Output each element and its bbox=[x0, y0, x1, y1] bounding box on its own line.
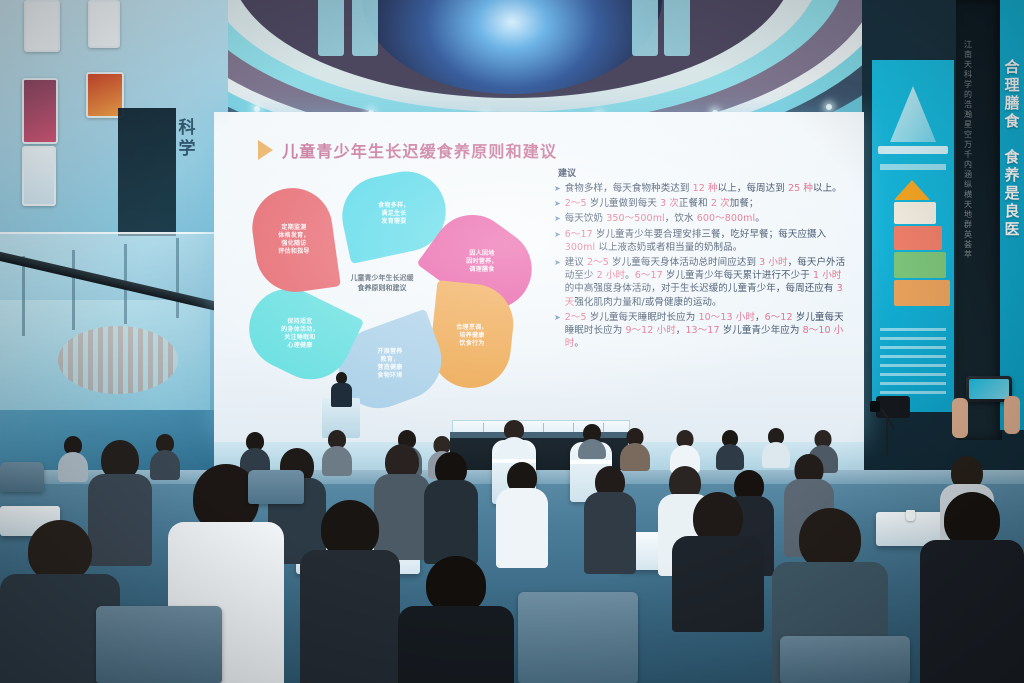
audience-person bbox=[498, 420, 530, 454]
person-head bbox=[799, 508, 861, 570]
ceiling-pillar bbox=[664, 0, 690, 56]
petal-label: 食物多样，满足生长发育需要 bbox=[367, 202, 421, 226]
petal-label: 开展营养教育，营造健康食物环境 bbox=[363, 348, 417, 380]
person-body bbox=[578, 439, 606, 459]
ceiling-pillar bbox=[318, 0, 344, 56]
bullet-text: 每天饮奶 350～500ml，饮水 600～800ml。 bbox=[565, 212, 765, 225]
chair-sash bbox=[570, 460, 612, 464]
wall-panel bbox=[88, 0, 120, 48]
rail-post bbox=[176, 238, 179, 318]
bullet-text: 食物多样，每天食物种类达到 12 种以上，每周达到 25 种以上。 bbox=[565, 182, 842, 195]
bullet-text: 2～5 岁儿童做到每天 3 次正餐和 2 次加餐； bbox=[565, 197, 759, 210]
bullet-item: ➤ 6～17 岁儿童青少年要合理安排三餐，吃好早餐；每天应摄入 300ml 以上… bbox=[554, 228, 846, 254]
audience-person bbox=[716, 430, 744, 468]
audience-person bbox=[322, 430, 352, 472]
bullet-item: ➤ 2～5 岁儿童每天睡眠时长应为 10～13 小时，6～12 岁儿童每天睡眠时… bbox=[554, 311, 846, 351]
rail-post bbox=[72, 250, 75, 330]
seat-back bbox=[518, 592, 638, 683]
petal-label: 保持适宜的身体活动，关注睡眠和心理健康 bbox=[273, 318, 327, 350]
pyramid-level-1 bbox=[894, 180, 930, 200]
slogan-banner: 合理膳食 食养是良医 bbox=[1000, 0, 1024, 430]
bullet-item: ➤ 食物多样，每天食物种类达到 12 种以上，每周达到 25 种以上。 bbox=[554, 182, 846, 195]
dietary-guideline-poster bbox=[872, 60, 954, 412]
pyramid-level-5 bbox=[894, 280, 950, 306]
phone-screen bbox=[969, 379, 1009, 399]
poster-caption-bar bbox=[880, 164, 946, 170]
flower-center-label: 儿童青少年生长迟缓食养原则和建议 bbox=[326, 266, 438, 300]
person-body bbox=[716, 444, 744, 470]
bullet-item: ➤ 2～5 岁儿童做到每天 3 次正餐和 2 次加餐； bbox=[554, 197, 846, 210]
hand bbox=[1004, 396, 1020, 434]
wall-panel bbox=[24, 0, 60, 52]
ceiling-pillar bbox=[352, 0, 378, 56]
left-wall: 科学 bbox=[0, 0, 228, 470]
person-body bbox=[322, 446, 352, 476]
wall-panel bbox=[22, 146, 56, 206]
bullet-item: ➤ 每天饮奶 350～500ml，饮水 600～800ml。 bbox=[554, 212, 846, 225]
poster-logo-icon bbox=[890, 86, 936, 142]
ceiling-pillar bbox=[632, 0, 658, 56]
glass-railing bbox=[0, 232, 232, 410]
speaker-person bbox=[330, 372, 352, 406]
bullet-marker: ➤ bbox=[554, 212, 561, 225]
seat-back bbox=[780, 636, 910, 683]
audience-person bbox=[58, 436, 88, 478]
seat-back bbox=[0, 462, 44, 492]
person-body bbox=[584, 492, 636, 574]
audience-person bbox=[620, 428, 650, 468]
audience-person bbox=[496, 462, 548, 562]
seat-back bbox=[248, 470, 304, 504]
bullet-text: 6～17 岁儿童青少年要合理安排三餐，吃好早餐；每天应摄入 300ml 以上液态… bbox=[565, 228, 846, 254]
calligraphy-text: 江南天科学的浩瀚星空万千内涵纵横天地群英荟萃 bbox=[960, 40, 976, 260]
audience-person-foreground bbox=[672, 492, 764, 622]
wall-calligraphy-text: 科学 bbox=[176, 118, 200, 160]
poster-title-bar bbox=[878, 146, 948, 154]
flower-diagram: 食物多样，满足生长发育需要 因人因地因时营养，调理膳食 合理烹调，培养健康饮食行… bbox=[234, 174, 534, 404]
seat-back bbox=[96, 606, 222, 683]
downlight bbox=[826, 104, 832, 110]
bullet-marker: ➤ bbox=[554, 256, 561, 309]
slide-body: 建议 ➤ 食物多样，每天食物种类达到 12 种以上，每周达到 25 种以上。 ➤… bbox=[554, 166, 846, 352]
audience-person bbox=[670, 430, 700, 470]
rail-post bbox=[22, 256, 25, 336]
calligraphy-scroll: 江南天科学的浩瀚星空万千内涵纵横天地群英荟萃 bbox=[956, 0, 1002, 440]
slide-title: 儿童青少年生长迟缓食养原则和建议 bbox=[258, 138, 557, 162]
slogan-banner-text: 合理膳食 食养是良医 bbox=[1002, 58, 1022, 238]
conference-hall-photo: 科学 江南天科学的浩瀚星空万千内涵纵横天地群英荟萃 合理膳食 食养是良医 bbox=[0, 0, 1024, 683]
pyramid-level-3 bbox=[894, 226, 942, 250]
play-triangle-icon bbox=[258, 140, 273, 160]
pyramid-level-2 bbox=[894, 202, 936, 224]
cup bbox=[906, 510, 915, 521]
person-body bbox=[498, 437, 530, 459]
person-body bbox=[58, 452, 88, 482]
audience-person bbox=[424, 452, 478, 558]
tripod-leg bbox=[886, 416, 888, 456]
bullet-marker: ➤ bbox=[554, 182, 561, 195]
bullet-marker: ➤ bbox=[554, 228, 561, 254]
petal-label: 合理烹调，培养健康饮食行为 bbox=[445, 324, 499, 348]
audience-person bbox=[584, 466, 636, 568]
speaker-body bbox=[331, 383, 352, 407]
person-body bbox=[398, 606, 514, 683]
bullet-marker: ➤ bbox=[554, 311, 561, 351]
poster-footer-text bbox=[880, 328, 946, 394]
bullet-item: ➤ 建议 2～5 岁儿童每天身体活动总时间应达到 3 小时，每天户外活动至少 2… bbox=[554, 256, 846, 309]
petal-label: 定期监测体格发育，强化随访评估和指导 bbox=[267, 224, 321, 256]
slide-title-text: 儿童青少年生长迟缓食养原则和建议 bbox=[282, 138, 557, 162]
wall-doorway bbox=[118, 108, 176, 236]
camera-lens-icon bbox=[870, 401, 880, 412]
bullet-text: 建议 2～5 岁儿童每天身体活动总时间应达到 3 小时，每天户外活动至少 2 小… bbox=[565, 256, 846, 309]
audience-person-foreground bbox=[398, 556, 514, 683]
person-body bbox=[300, 550, 400, 683]
petal-label: 因人因地因时营养，调理膳食 bbox=[455, 250, 509, 274]
audience-person bbox=[578, 424, 606, 456]
person-body bbox=[920, 540, 1024, 683]
bullet-marker: ➤ bbox=[554, 197, 561, 210]
bullet-text: 2～5 岁儿童每天睡眠时长应为 10～13 小时，6～12 岁儿童每天睡眠时长应… bbox=[565, 311, 846, 351]
wall-poster bbox=[22, 78, 58, 144]
pyramid-level-4 bbox=[894, 252, 946, 278]
projection-screen: 儿童青少年生长迟缓食养原则和建议 食物多样，满足生长发育需要 因人因地因时营养，… bbox=[214, 112, 864, 442]
audience-person-foreground bbox=[300, 500, 400, 683]
body-heading: 建议 bbox=[558, 166, 846, 179]
person-head bbox=[28, 520, 92, 582]
hand bbox=[952, 398, 968, 438]
video-camera-icon bbox=[876, 396, 910, 418]
audience-person-foreground bbox=[920, 492, 1024, 683]
person-body bbox=[424, 480, 478, 564]
person-body bbox=[672, 536, 764, 632]
